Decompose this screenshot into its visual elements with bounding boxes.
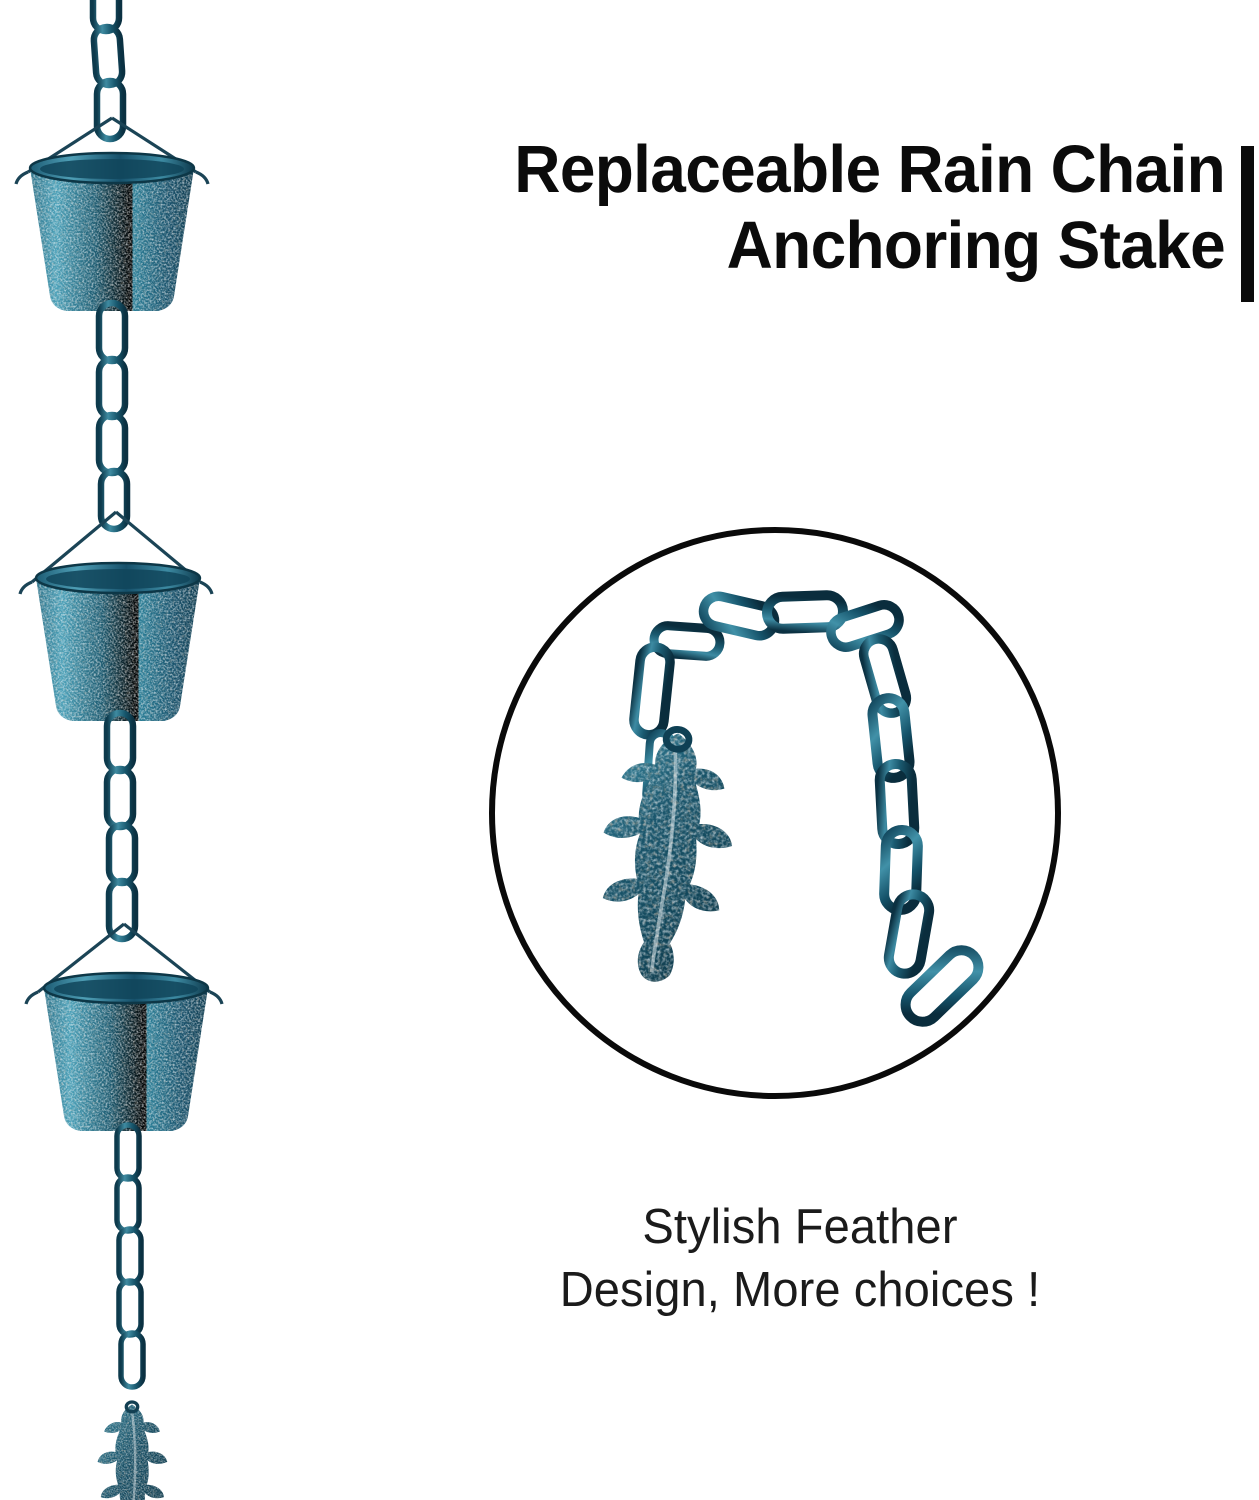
feature-caption-line-1: Stylish Feather	[445, 1196, 1155, 1259]
page-title: Replaceable Rain Chain Anchoring Stake	[308, 132, 1225, 285]
chain-segment-3	[117, 1125, 143, 1387]
feather-ornament	[98, 1402, 168, 1500]
chain-segment-1	[99, 303, 127, 529]
page-title-line-2: Anchoring Stake	[308, 208, 1225, 284]
chain-segment-top	[93, 0, 123, 139]
poster-canvas: Replaceable Rain Chain Anchoring Stake	[0, 0, 1259, 1500]
feature-caption: Stylish Feather Design, More choices !	[445, 1196, 1155, 1321]
feature-caption-line-2: Design, More choices !	[445, 1259, 1155, 1322]
product-rain-chain-image	[0, 0, 262, 1500]
cup-middle	[36, 563, 200, 721]
title-accent-bar	[1241, 146, 1254, 302]
cup-top	[30, 153, 194, 311]
product-illustration	[0, 0, 262, 1500]
cup-bottom	[44, 973, 208, 1131]
detail-inset-circle	[487, 516, 1063, 1110]
chain-segment-2	[107, 713, 135, 939]
page-title-line-1: Replaceable Rain Chain	[308, 132, 1225, 208]
detail-inset-illustration	[487, 516, 1063, 1110]
